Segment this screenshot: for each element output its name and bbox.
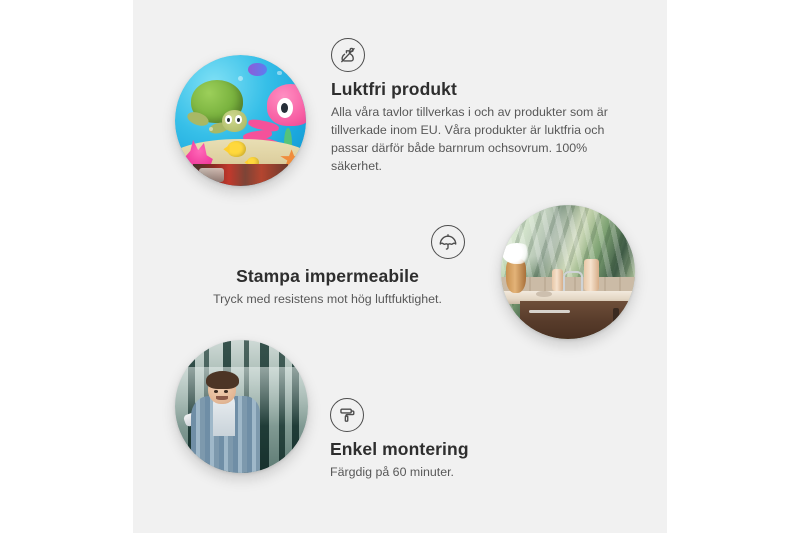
feature-block-enkel-montering: Enkel montering Färgdig på 60 minuter. [0,330,800,530]
painter-forest-circle-image [175,340,308,473]
feature-block-luktfri-produkt: Luktfri produkt Alla våra tavlor tillver… [0,0,800,200]
feature-text-stampa-impermeabile: Stampa impermeabile Tryck med resistens … [190,225,465,308]
feature-text-luktfri-produkt: Luktfri produkt Alla våra tavlor tillver… [331,38,623,175]
umbrella-icon [431,225,465,259]
feature-body: Tryck med resistens mot hög luftfuktighe… [190,290,465,308]
feature-title: Enkel montering [330,439,580,460]
bathroom-interior-circle-image [501,205,635,339]
paint-roller-icon [330,398,364,432]
feature-body: Alla våra tavlor tillverkas i och av pro… [331,103,623,175]
no-odour-perfume-icon [331,38,365,72]
feature-title: Luktfri produkt [331,79,623,100]
feature-text-enkel-montering: Enkel montering Färgdig på 60 minuter. [330,398,580,481]
feature-title: Stampa impermeabile [190,266,465,287]
feature-body: Färgdig på 60 minuter. [330,463,580,481]
promo-infographic: Luktfri produkt Alla våra tavlor tillver… [0,0,800,533]
underwater-cartoon-circle-image [175,55,306,186]
